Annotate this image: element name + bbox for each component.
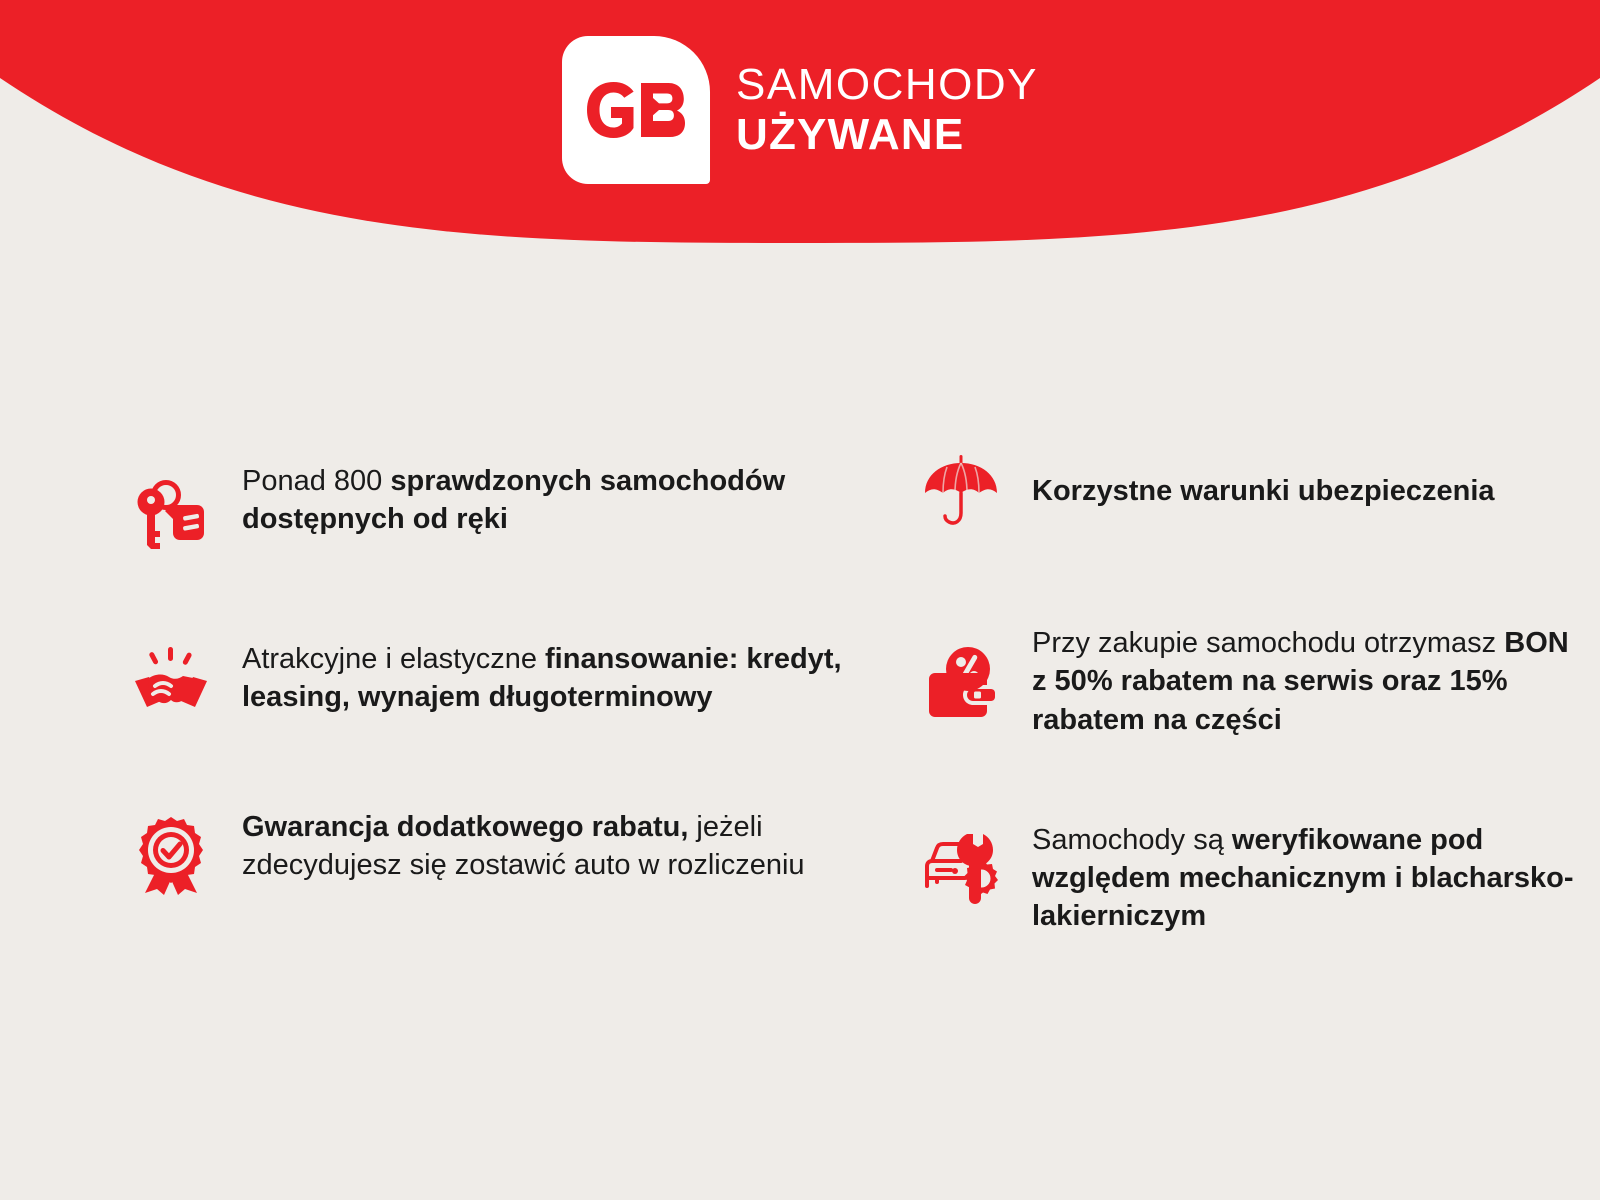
feature-strong: Korzystne warunki ubezpieczenia <box>1032 475 1495 507</box>
feature-lead: Samochody są <box>1032 824 1232 856</box>
feature-text: Ponad 800 sprawdzonych samochodów dostęp… <box>242 458 848 539</box>
feature-strong: Gwarancja dodatkowego rabatu, <box>242 811 688 843</box>
feature-item: Ponad 800 sprawdzonych samochodów dostęp… <box>128 458 848 558</box>
wallet-percent-icon <box>918 640 1004 726</box>
features-column-left: Ponad 800 sprawdzonych samochodów dostęp… <box>128 440 848 936</box>
page-header: SAMOCHODY UŻYWANE <box>0 0 1600 260</box>
brand-line-uzywane: UŻYWANE <box>736 113 1038 157</box>
car-wrench-gear-icon <box>918 823 1004 909</box>
feature-text: Samochody są weryfikowane pod względem m… <box>1032 817 1578 936</box>
umbrella-icon <box>918 448 1004 534</box>
feature-text: Atrakcyjne i elastyczne finansowanie: kr… <box>242 636 848 717</box>
feature-text: Gwarancja dodatkowego rabatu, jeżeli zde… <box>242 804 848 885</box>
award-rosette-icon <box>128 812 214 898</box>
gb-monogram-icon <box>584 80 688 140</box>
feature-item: Atrakcyjne i elastyczne finansowanie: kr… <box>128 636 848 728</box>
brand-line-samochody: SAMOCHODY <box>736 63 1038 107</box>
logo-tile[interactable] <box>562 36 710 184</box>
features-grid: Ponad 800 sprawdzonych samochodów dostęp… <box>0 440 1600 936</box>
feature-text: Korzystne warunki ubezpieczenia <box>1032 452 1495 510</box>
brand-words: SAMOCHODY UŻYWANE <box>736 63 1038 157</box>
feature-lead: Przy zakupie samochodu otrzymasz <box>1032 627 1504 659</box>
feature-text: Przy zakupie samochodu otrzymasz BON z 5… <box>1032 620 1578 739</box>
brand-lockup: SAMOCHODY UŻYWANE <box>562 36 1038 184</box>
feature-item: Korzystne warunki ubezpieczenia <box>918 452 1578 534</box>
feature-lead: Atrakcyjne i elastyczne <box>242 643 545 675</box>
handshake-icon <box>128 642 214 728</box>
feature-lead: Ponad 800 <box>242 465 390 497</box>
features-column-right: Korzystne warunki ubezpieczenia <box>918 440 1578 936</box>
car-key-icon <box>128 472 214 558</box>
feature-item: Samochody są weryfikowane pod względem m… <box>918 817 1578 936</box>
feature-item: Przy zakupie samochodu otrzymasz BON z 5… <box>918 620 1578 739</box>
feature-item: Gwarancja dodatkowego rabatu, jeżeli zde… <box>128 804 848 898</box>
